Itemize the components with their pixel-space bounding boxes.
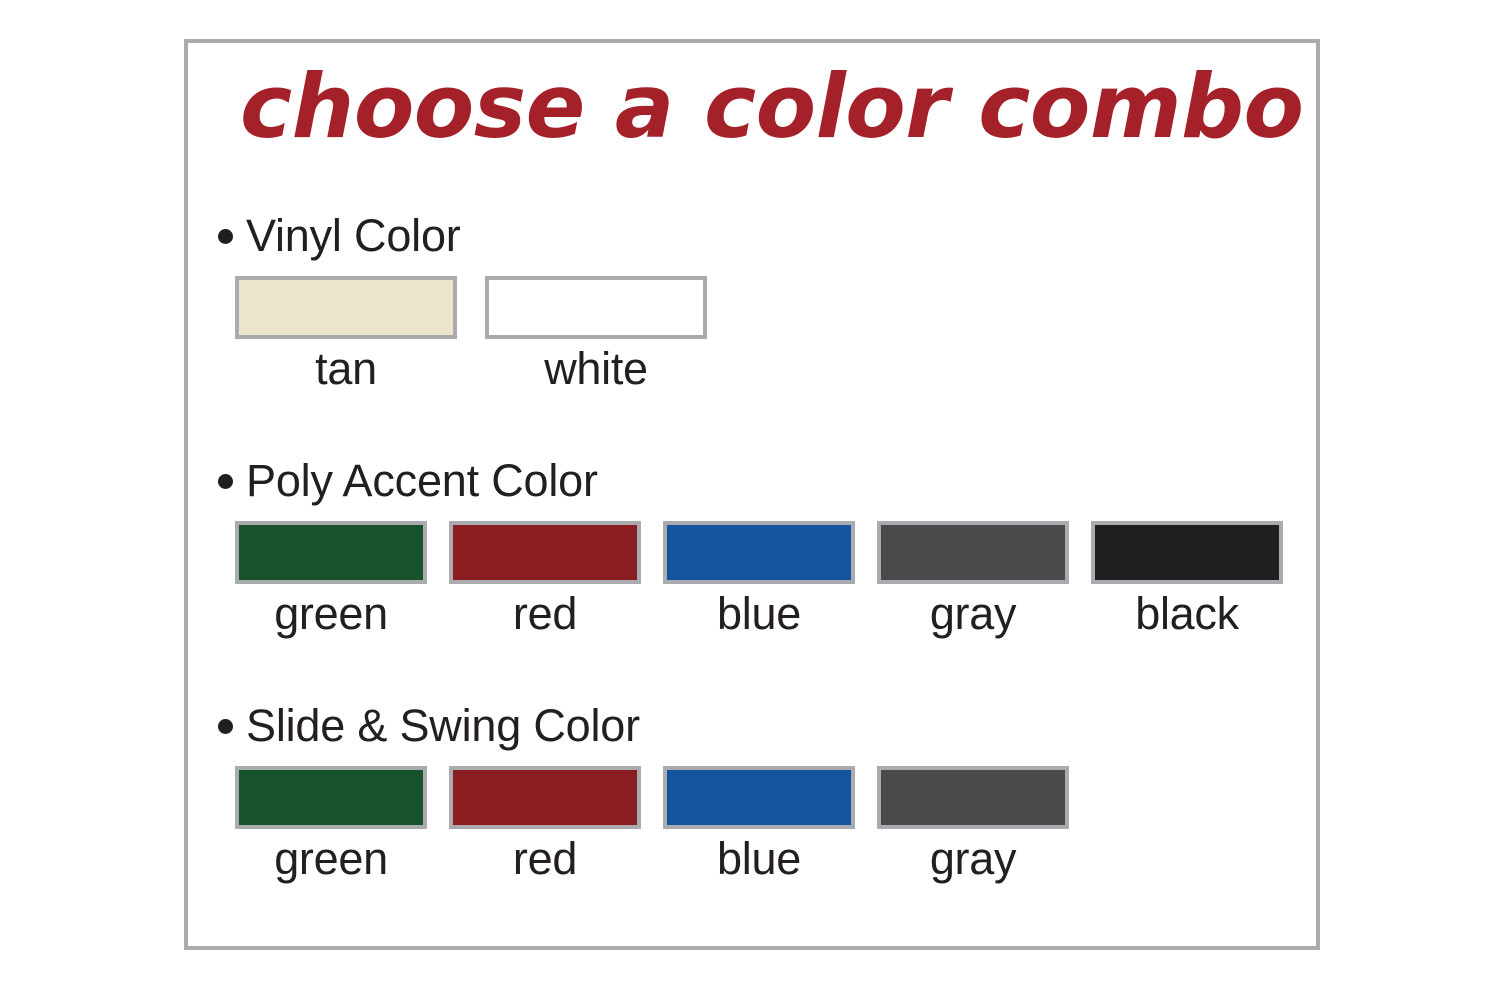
- swatch-row-vinyl-color: tan white: [235, 276, 1296, 392]
- swatch-label-poly-green: green: [274, 590, 388, 637]
- section-title-poly-accent-color: Poly Accent Color: [246, 458, 598, 503]
- section-header-vinyl-color: Vinyl Color: [218, 208, 1296, 262]
- bullet-dot-icon: [218, 229, 233, 244]
- bullet-dot-icon: [218, 719, 233, 734]
- swatch-label-slide-gray: gray: [930, 835, 1016, 882]
- swatch-chip-poly-blue[interactable]: [663, 521, 855, 584]
- swatch-option-slide-green[interactable]: green: [235, 766, 427, 882]
- swatch-row-poly-accent-color: green red blue gray black: [235, 521, 1296, 637]
- swatch-label-slide-red: red: [513, 835, 577, 882]
- section-poly-accent-color: Poly Accent Color green red blue gray: [216, 453, 1296, 637]
- swatch-label-poly-black: black: [1135, 590, 1239, 637]
- swatch-row-slide-swing-color: green red blue gray: [235, 766, 1296, 882]
- section-title-vinyl-color: Vinyl Color: [246, 213, 461, 258]
- section-header-poly-accent-color: Poly Accent Color: [218, 453, 1296, 507]
- swatch-label-white: white: [544, 345, 648, 392]
- page-canvas: choose a color combo Vinyl Color tan whi…: [0, 0, 1500, 1000]
- swatch-label-poly-red: red: [513, 590, 577, 637]
- swatch-chip-poly-green[interactable]: [235, 521, 427, 584]
- swatch-chip-slide-gray[interactable]: [877, 766, 1069, 829]
- swatch-label-slide-green: green: [274, 835, 388, 882]
- swatch-chip-poly-red[interactable]: [449, 521, 641, 584]
- swatch-chip-poly-gray[interactable]: [877, 521, 1069, 584]
- swatch-chip-white[interactable]: [485, 276, 707, 339]
- swatch-label-slide-blue: blue: [717, 835, 801, 882]
- swatch-option-poly-gray[interactable]: gray: [877, 521, 1069, 637]
- swatch-option-tan[interactable]: tan: [235, 276, 457, 392]
- swatch-label-poly-gray: gray: [930, 590, 1016, 637]
- bullet-dot-icon: [218, 474, 233, 489]
- swatch-option-slide-gray[interactable]: gray: [877, 766, 1069, 882]
- swatch-option-poly-red[interactable]: red: [449, 521, 641, 637]
- page-title: choose a color combo: [240, 61, 1300, 153]
- swatch-label-tan: tan: [315, 345, 377, 392]
- swatch-option-slide-blue[interactable]: blue: [663, 766, 855, 882]
- swatch-option-poly-green[interactable]: green: [235, 521, 427, 637]
- swatch-chip-slide-blue[interactable]: [663, 766, 855, 829]
- section-header-slide-swing-color: Slide & Swing Color: [218, 698, 1296, 752]
- section-slide-swing-color: Slide & Swing Color green red blue gray: [216, 698, 1296, 882]
- swatch-option-poly-black[interactable]: black: [1091, 521, 1283, 637]
- swatch-option-white[interactable]: white: [485, 276, 707, 392]
- swatch-label-poly-blue: blue: [717, 590, 801, 637]
- color-combo-card: choose a color combo Vinyl Color tan whi…: [184, 39, 1320, 950]
- swatch-chip-tan[interactable]: [235, 276, 457, 339]
- swatch-option-poly-blue[interactable]: blue: [663, 521, 855, 637]
- swatch-option-slide-red[interactable]: red: [449, 766, 641, 882]
- swatch-chip-slide-red[interactable]: [449, 766, 641, 829]
- swatch-chip-poly-black[interactable]: [1091, 521, 1283, 584]
- swatch-chip-slide-green[interactable]: [235, 766, 427, 829]
- section-vinyl-color: Vinyl Color tan white: [216, 208, 1296, 392]
- section-title-slide-swing-color: Slide & Swing Color: [246, 703, 640, 748]
